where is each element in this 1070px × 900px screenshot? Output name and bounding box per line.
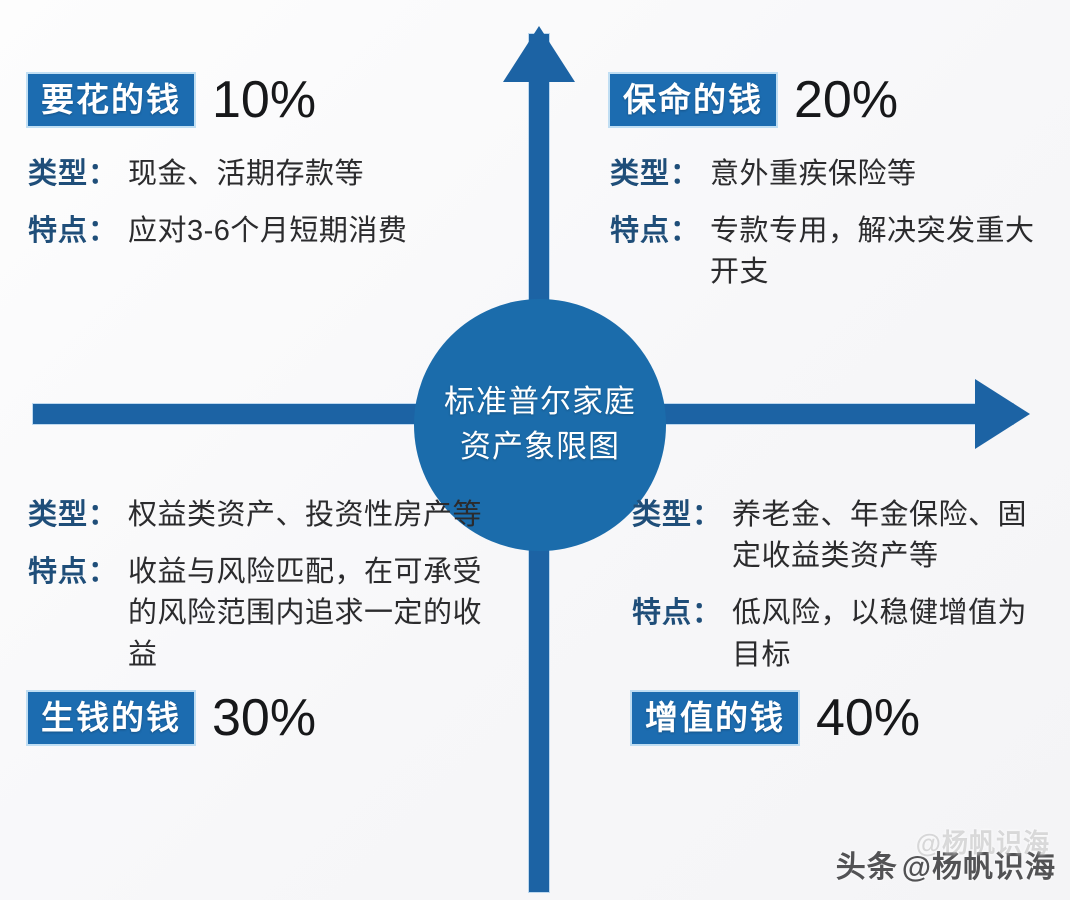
detail-value-type: 意外重疾保险等 [710,154,917,195]
quadrant-heading: 保命的钱 20% [610,74,1050,126]
quadrant-heading: 要花的钱 10% [28,74,498,126]
quadrant-heading: 增值的钱 40% [632,692,1052,744]
center-title-line-2: 资产象限图 [460,425,620,470]
detail-value-feature: 低风险，以稳健增值为目标 [732,593,1052,675]
detail-label-type: 类型： [28,495,118,536]
detail-row-feature: 特点： 收益与风险匹配，在可承受的风险范围内追求一定的收益 [28,552,508,676]
quadrant-top-left: 要花的钱 10% 类型： 现金、活期存款等 特点： 应对3-6个月短期消费 [28,74,498,268]
quadrant-badge-appreciation: 增值的钱 [632,692,798,744]
detail-value-feature: 专款专用，解决突发重大开支 [710,211,1050,293]
quadrant-percent-growth: 30% [212,692,316,744]
watermark-ghost: @杨帆识海 [916,823,1050,860]
quadrant-bottom-right: 类型： 养老金、年金保险、固定收益类资产等 特点： 低风险，以稳健增值为目标 增… [632,495,1052,744]
quadrant-badge-spending: 要花的钱 [28,74,194,126]
quadrant-percent-appreciation: 40% [816,692,920,744]
detail-row-type: 类型： 现金、活期存款等 [28,154,498,195]
detail-label-type: 类型： [632,495,722,536]
quadrant-diagram-canvas: 标准普尔家庭 资产象限图 要花的钱 10% 类型： 现金、活期存款等 特点： 应… [0,0,1070,900]
quadrant-bottom-left: 类型： 权益类资产、投资性房产等 特点： 收益与风险匹配，在可承受的风险范围内追… [28,495,508,744]
detail-label-feature: 特点： [632,593,722,634]
detail-row-type: 类型： 养老金、年金保险、固定收益类资产等 [632,495,1052,577]
detail-label-feature: 特点： [28,552,118,593]
detail-value-type: 现金、活期存款等 [128,154,364,195]
quadrant-percent-spending: 10% [212,74,316,126]
detail-value-feature: 应对3-6个月短期消费 [128,211,407,252]
detail-row-feature: 特点： 专款专用，解决突发重大开支 [610,211,1050,293]
detail-row-type: 类型： 意外重疾保险等 [610,154,1050,195]
quadrant-badge-protection: 保命的钱 [610,74,776,126]
quadrant-percent-protection: 20% [794,74,898,126]
detail-row-feature: 特点： 低风险，以稳健增值为目标 [632,593,1052,675]
detail-value-feature: 收益与风险匹配，在可承受的风险范围内追求一定的收益 [128,552,508,676]
detail-value-type: 权益类资产、投资性房产等 [128,495,482,536]
detail-row-type: 类型： 权益类资产、投资性房产等 [28,495,508,536]
center-title-line-1: 标准普尔家庭 [444,380,636,425]
quadrant-heading: 生钱的钱 30% [28,692,508,744]
quadrant-top-right: 保命的钱 20% 类型： 意外重疾保险等 特点： 专款专用，解决突发重大开支 [610,74,1050,310]
watermark: @杨帆识海 头条 @杨帆识海 [836,842,1056,886]
detail-value-type: 养老金、年金保险、固定收益类资产等 [732,495,1052,577]
detail-label-feature: 特点： [610,211,700,252]
arrow-up-icon [503,26,575,82]
quadrant-badge-growth: 生钱的钱 [28,692,194,744]
detail-label-feature: 特点： [28,211,118,252]
detail-label-type: 类型： [28,154,118,195]
detail-row-feature: 特点： 应对3-6个月短期消费 [28,211,498,252]
watermark-platform: 头条 [836,842,898,886]
arrow-right-icon [975,379,1030,449]
detail-label-type: 类型： [610,154,700,195]
